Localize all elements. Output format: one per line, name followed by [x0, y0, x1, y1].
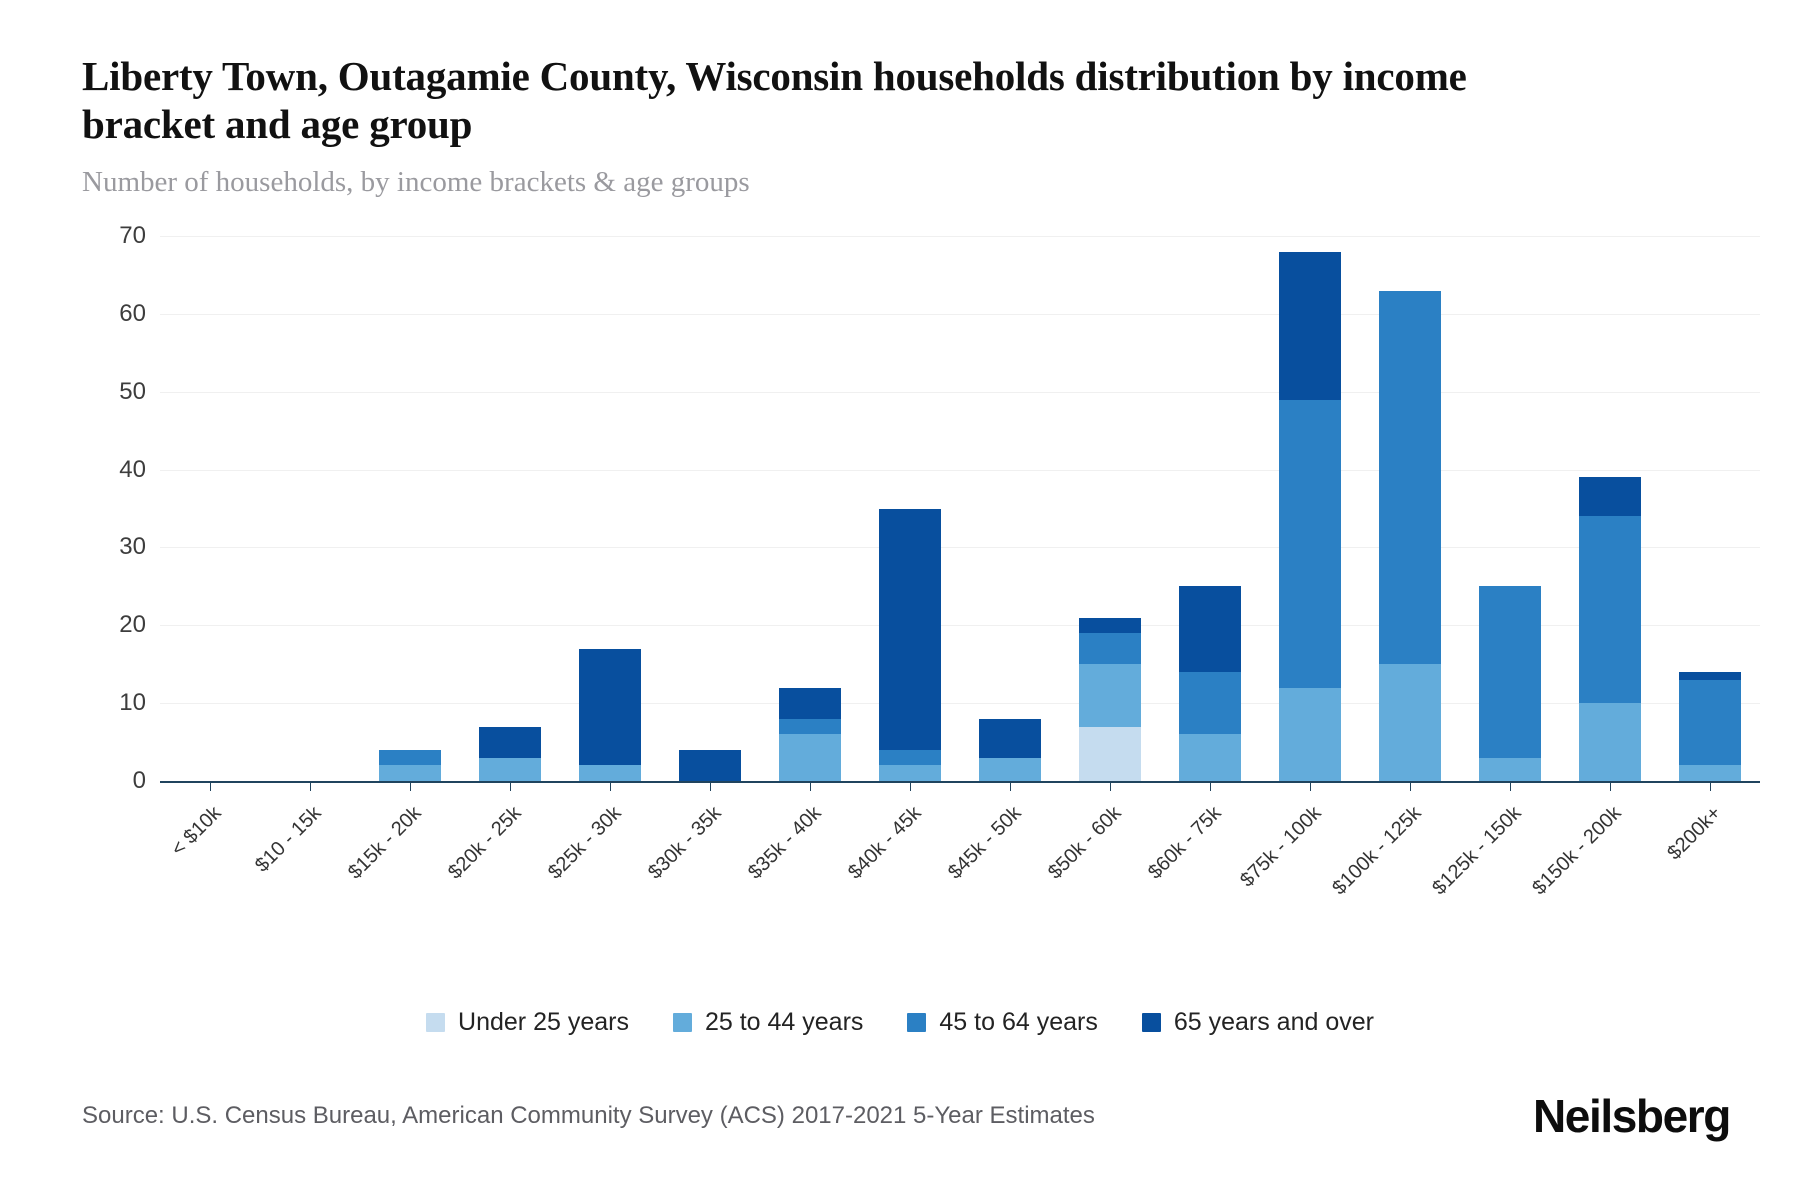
x-label-slot: < $10k [160, 796, 260, 916]
legend-label: 25 to 44 years [705, 1008, 863, 1037]
x-label-slot: $50k - 60k [1060, 796, 1160, 916]
bar-slot[interactable] [660, 236, 760, 781]
bar-segment[interactable] [379, 750, 441, 766]
plot-area: 010203040506070 [0, 236, 1800, 796]
y-axis-tick-label: 30 [119, 533, 146, 561]
stacked-bar[interactable] [679, 750, 741, 781]
x-label-slot: $150k - 200k [1560, 796, 1660, 916]
bar-slot[interactable] [560, 236, 660, 781]
bar-segment[interactable] [1079, 664, 1141, 726]
stacked-bar[interactable] [879, 509, 941, 781]
bar-segment[interactable] [1679, 765, 1741, 781]
stacked-bar[interactable] [579, 649, 641, 781]
stacked-bar[interactable] [979, 719, 1041, 781]
legend-swatch-icon [1142, 1013, 1161, 1032]
bar-segment[interactable] [1479, 758, 1541, 781]
bar-segment[interactable] [1579, 703, 1641, 781]
legend-label: 65 years and over [1174, 1008, 1374, 1037]
legend-swatch-icon [907, 1013, 926, 1032]
bar-segment[interactable] [1279, 400, 1341, 688]
stacked-bar[interactable] [479, 727, 541, 781]
page-title: Liberty Town, Outagamie County, Wisconsi… [82, 52, 1502, 148]
bar-segment[interactable] [879, 765, 941, 781]
chart-legend: Under 25 years25 to 44 years45 to 64 yea… [0, 1008, 1800, 1037]
x-axis-tick-label: < $10k [167, 802, 226, 861]
bar-segment[interactable] [379, 765, 441, 781]
bar-segment[interactable] [1279, 688, 1341, 781]
chart-footer: Source: U.S. Census Bureau, American Com… [82, 1086, 1730, 1146]
y-axis-tick-label: 10 [119, 689, 146, 717]
bar-segment[interactable] [1179, 672, 1241, 734]
bar-segment[interactable] [779, 719, 841, 735]
bar-segment[interactable] [1379, 291, 1441, 665]
y-axis-tick-label: 70 [119, 222, 146, 250]
legend-swatch-icon [426, 1013, 445, 1032]
bar-slot[interactable] [1260, 236, 1360, 781]
bar-slot[interactable] [460, 236, 560, 781]
x-label-slot: $20k - 25k [460, 796, 560, 916]
chart-page: Liberty Town, Outagamie County, Wisconsi… [0, 0, 1800, 1200]
x-label-slot: $40k - 45k [860, 796, 960, 916]
bar-slot[interactable] [1060, 236, 1160, 781]
bar-segment[interactable] [1379, 664, 1441, 781]
bar-segment[interactable] [1579, 516, 1641, 703]
bar-segment[interactable] [479, 727, 541, 758]
bar-segment[interactable] [779, 688, 841, 719]
y-axis-tick-label: 20 [119, 611, 146, 639]
x-label-slot: $35k - 40k [760, 796, 860, 916]
bar-segment[interactable] [979, 719, 1041, 758]
brand-logo: Neilsberg [1533, 1089, 1730, 1143]
stacked-bar[interactable] [1079, 618, 1141, 781]
x-label-slot: $10 - 15k [260, 796, 360, 916]
legend-item[interactable]: 25 to 44 years [673, 1008, 863, 1037]
bar-segment[interactable] [879, 750, 941, 766]
bar-segment[interactable] [979, 758, 1041, 781]
legend-item[interactable]: 65 years and over [1142, 1008, 1374, 1037]
bar-segment[interactable] [879, 509, 941, 750]
bar-slot[interactable] [960, 236, 1060, 781]
stacked-bar[interactable] [1579, 477, 1641, 781]
legend-label: 45 to 64 years [939, 1008, 1097, 1037]
y-axis-tick-label: 60 [119, 300, 146, 328]
bar-segment[interactable] [679, 750, 741, 781]
bar-segment[interactable] [1179, 586, 1241, 672]
bar-slot[interactable] [760, 236, 860, 781]
stacked-bar[interactable] [1479, 586, 1541, 781]
bar-slot[interactable] [160, 236, 260, 781]
y-axis-tick-label: 0 [133, 767, 146, 795]
x-axis-labels: < $10k$10 - 15k$15k - 20k$20k - 25k$25k … [160, 796, 1760, 916]
bar-segment[interactable] [1079, 618, 1141, 634]
bar-segment[interactable] [1679, 680, 1741, 766]
bar-slot[interactable] [1560, 236, 1660, 781]
x-axis-tick-label: $10 - 15k [251, 802, 326, 877]
bar-segment[interactable] [779, 734, 841, 781]
bar-segment[interactable] [1679, 672, 1741, 680]
stacked-bar[interactable] [1679, 672, 1741, 781]
x-label-slot: $15k - 20k [360, 796, 460, 916]
source-note: Source: U.S. Census Bureau, American Com… [82, 1102, 1095, 1130]
legend-item[interactable]: Under 25 years [426, 1008, 629, 1037]
bar-segment[interactable] [1079, 727, 1141, 782]
x-label-slot: $200k+ [1660, 796, 1760, 916]
legend-label: Under 25 years [458, 1008, 629, 1037]
bar-segment[interactable] [1279, 252, 1341, 400]
y-axis-tick-label: 40 [119, 456, 146, 484]
bar-slot[interactable] [1660, 236, 1760, 781]
legend-swatch-icon [673, 1013, 692, 1032]
x-label-slot: $30k - 35k [660, 796, 760, 916]
stacked-bar[interactable] [1279, 252, 1341, 781]
x-axis-line [160, 781, 1760, 783]
bar-slot[interactable] [860, 236, 960, 781]
stacked-bar[interactable] [1179, 586, 1241, 781]
bar-slot[interactable] [360, 236, 460, 781]
bar-segment[interactable] [1079, 633, 1141, 664]
bar-segment[interactable] [479, 758, 541, 781]
chart-header: Liberty Town, Outagamie County, Wisconsi… [82, 52, 1722, 200]
stacked-bar[interactable] [1379, 291, 1441, 781]
bar-slot[interactable] [260, 236, 360, 781]
legend-item[interactable]: 45 to 64 years [907, 1008, 1097, 1037]
x-label-slot: $60k - 75k [1160, 796, 1260, 916]
stacked-bar[interactable] [779, 688, 841, 781]
bar-slot[interactable] [1360, 236, 1460, 781]
y-axis-tick-label: 50 [119, 378, 146, 406]
bar-segment[interactable] [579, 765, 641, 781]
bar-slot[interactable] [1160, 236, 1260, 781]
bar-segment[interactable] [579, 649, 641, 766]
y-axis: 010203040506070 [78, 236, 146, 781]
bar-slot[interactable] [1460, 236, 1560, 781]
chart-subtitle: Number of households, by income brackets… [82, 164, 1722, 200]
x-label-slot: $25k - 30k [560, 796, 660, 916]
bar-segment[interactable] [1579, 477, 1641, 516]
stacked-bar[interactable] [379, 750, 441, 781]
bar-segment[interactable] [1479, 586, 1541, 757]
bar-segment[interactable] [1179, 734, 1241, 781]
bar-group [160, 236, 1760, 781]
x-axis-tick-label: $200k+ [1663, 802, 1726, 865]
x-label-slot: $45k - 50k [960, 796, 1060, 916]
